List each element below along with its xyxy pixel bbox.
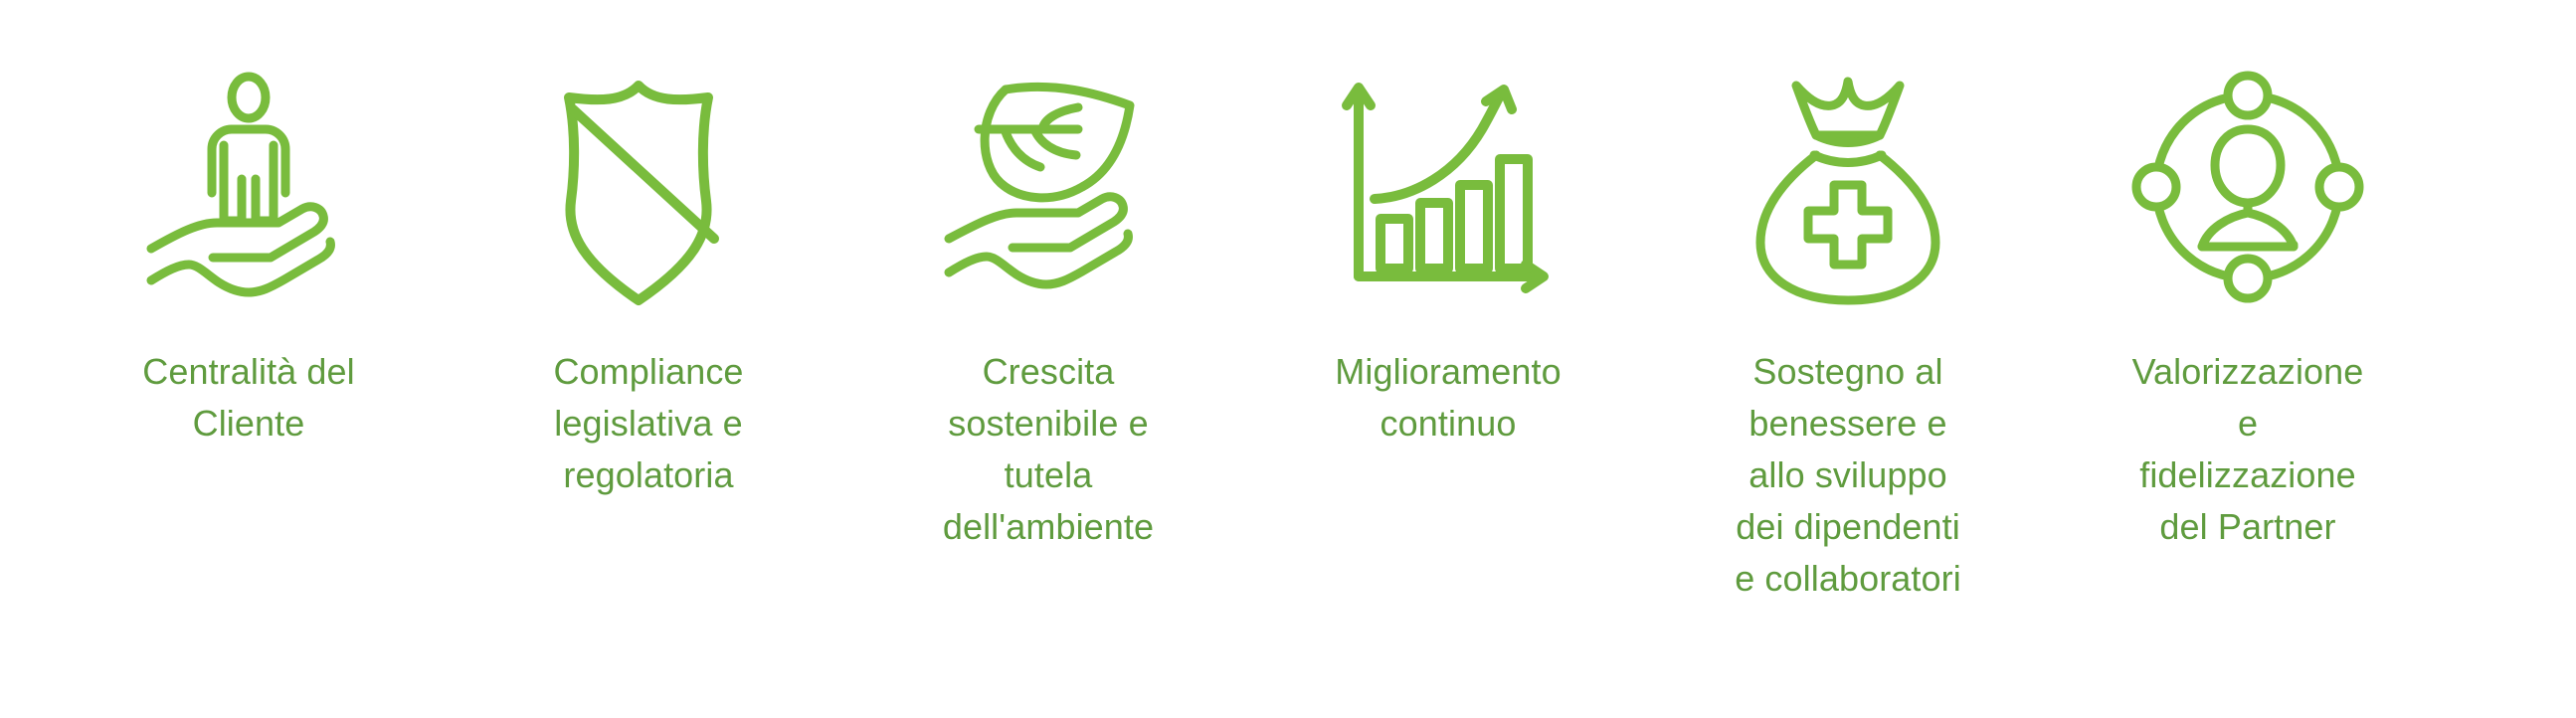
person-network-icon (2128, 68, 2367, 306)
value-column-compliance: Compliance legislativa e regolatoria (449, 0, 848, 501)
value-label: Valorizzazione e fidelizzazione del Part… (2084, 346, 2412, 553)
growth-bar-chart-icon (1329, 68, 1567, 306)
value-label: Crescita sostenibile e tutela dell'ambie… (884, 346, 1212, 553)
value-column-centralita-cliente: Centralità del Cliente (49, 0, 449, 449)
values-board: Centralità del Cliente Compliance legisl… (0, 0, 2576, 718)
value-label: Centralità del Cliente (85, 346, 413, 449)
shield-icon (529, 68, 768, 306)
value-column-crescita-sostenibile: Crescita sostenibile e tutela dell'ambie… (848, 0, 1248, 553)
value-column-valorizzazione-partner: Valorizzazione e fidelizzazione del Part… (2048, 0, 2448, 553)
value-label: Miglioramento continuo (1284, 346, 1612, 449)
value-column-miglioramento-continuo: Miglioramento continuo (1248, 0, 1648, 449)
person-on-hand-icon (129, 68, 368, 306)
value-label: Compliance legislativa e regolatoria (484, 346, 813, 501)
value-label: Sostegno al benessere e allo sviluppo de… (1684, 346, 2012, 605)
leaf-on-hand-icon (929, 68, 1168, 306)
value-column-sostegno-benessere: Sostegno al benessere e allo sviluppo de… (1648, 0, 2048, 605)
money-bag-plus-icon (1729, 68, 1967, 306)
